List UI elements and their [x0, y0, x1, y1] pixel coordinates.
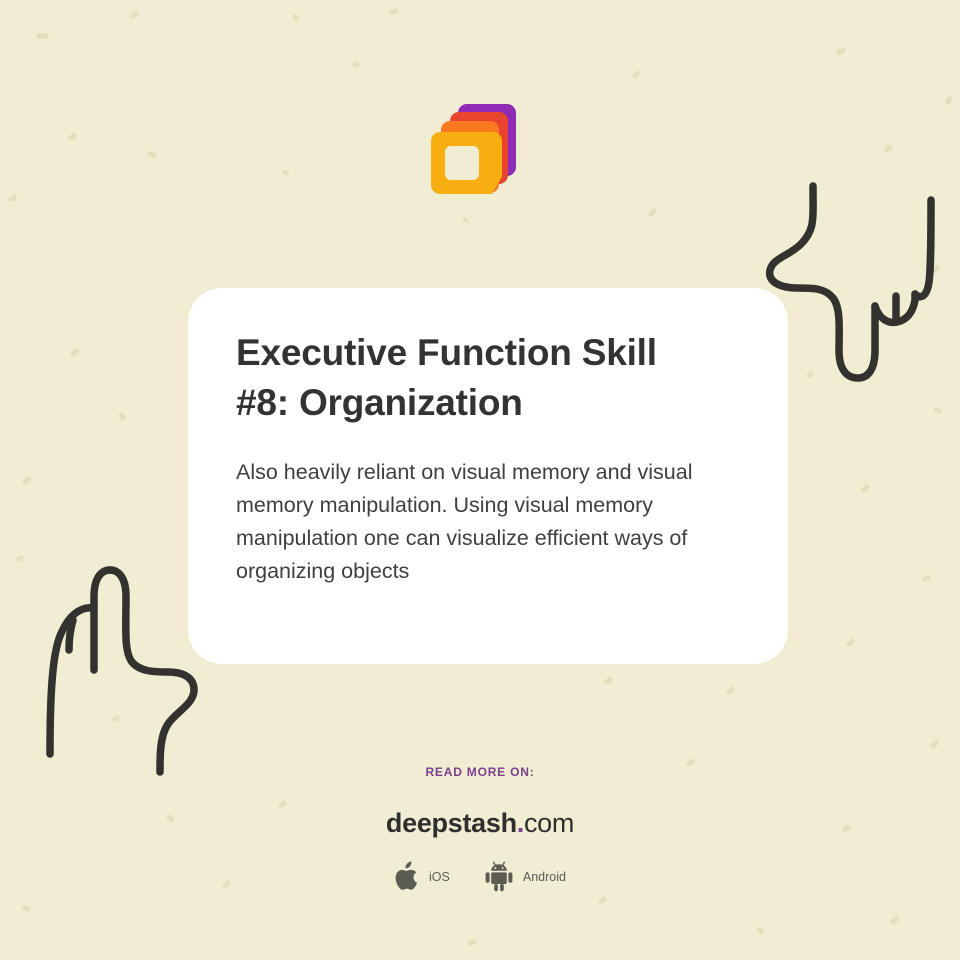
background-speck	[147, 151, 157, 159]
background-speck	[462, 216, 470, 224]
wordmark-name: deepstash	[386, 808, 517, 838]
store-label-ios: iOS	[429, 870, 450, 884]
poster-canvas: Executive Function Skill #8: Organizatio…	[0, 0, 960, 960]
background-speck	[15, 554, 24, 563]
background-speck	[292, 13, 301, 22]
apple-icon	[394, 861, 420, 892]
store-badges: iOS And	[0, 861, 960, 892]
background-speck	[835, 47, 846, 57]
store-badge-android[interactable]: Android	[484, 861, 566, 892]
background-speck	[805, 370, 814, 379]
background-speck	[726, 686, 736, 696]
background-speck	[883, 144, 893, 154]
background-speck	[597, 896, 607, 906]
background-speck	[889, 916, 899, 925]
background-speck	[845, 638, 855, 648]
background-speck	[944, 95, 953, 105]
background-speck	[755, 926, 764, 935]
background-speck	[603, 676, 613, 685]
background-speck	[921, 574, 931, 583]
content-card: Executive Function Skill #8: Organizatio…	[188, 288, 788, 664]
footer: READ MORE ON: deepstash.com iOS	[0, 765, 960, 892]
background-speck	[932, 263, 942, 273]
background-speck	[631, 70, 641, 80]
logo-inner-cutout	[445, 146, 479, 180]
background-speck	[67, 132, 77, 141]
background-speck	[70, 348, 80, 358]
background-speck	[860, 483, 871, 493]
background-speck	[648, 208, 658, 218]
background-speck	[129, 10, 139, 19]
background-speck	[389, 8, 399, 16]
read-more-label: READ MORE ON:	[0, 765, 960, 779]
android-icon	[484, 861, 514, 892]
background-speck	[929, 740, 939, 750]
wordmark-tld: com	[524, 808, 574, 838]
store-label-android: Android	[523, 870, 566, 884]
background-speck	[281, 168, 290, 176]
background-speck	[467, 938, 477, 947]
card-body-text: Also heavily reliant on visual memory an…	[236, 456, 706, 588]
hand-pointing-up-icon	[22, 558, 207, 783]
store-badge-ios[interactable]: iOS	[394, 861, 450, 892]
background-speck	[933, 407, 942, 415]
background-speck	[118, 412, 127, 421]
background-speck	[351, 61, 360, 69]
background-speck	[21, 476, 31, 486]
background-speck	[36, 33, 49, 39]
background-speck	[21, 904, 31, 912]
deepstash-wordmark[interactable]: deepstash.com	[0, 808, 960, 839]
card-title: Executive Function Skill #8: Organizatio…	[236, 328, 706, 428]
background-speck	[111, 714, 120, 723]
deepstash-logo	[430, 104, 516, 194]
wordmark-dot: .	[517, 808, 524, 838]
background-speck	[7, 194, 17, 203]
